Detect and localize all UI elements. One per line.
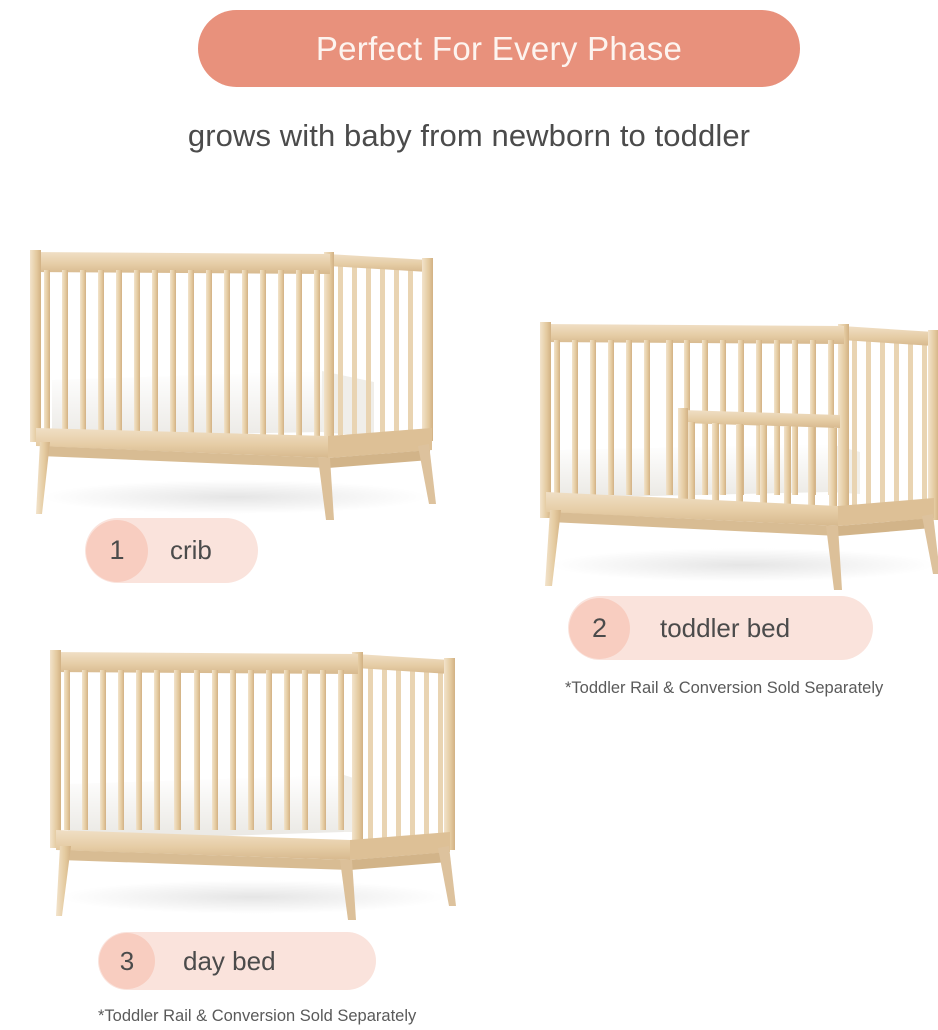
- stage-number-3: 3: [99, 933, 155, 989]
- product-image-crib: [22, 232, 442, 522]
- product-image-toddler-bed: [530, 302, 938, 594]
- header-banner: Perfect For Every Phase: [198, 10, 800, 87]
- footnote-toddler-bed: *Toddler Rail & Conversion Sold Separate…: [565, 679, 883, 698]
- header-subtitle: grows with baby from newborn to toddler: [0, 118, 938, 154]
- product-image-day-bed: [42, 632, 462, 922]
- banner-title: Perfect For Every Phase: [316, 30, 682, 68]
- stage-name-1: crib: [170, 535, 212, 566]
- stage-label-day-bed: 3 day bed: [98, 932, 376, 990]
- stage-number-1: 1: [86, 520, 148, 582]
- footnote-day-bed: *Toddler Rail & Conversion Sold Separate…: [98, 1007, 416, 1026]
- stage-number-2: 2: [569, 598, 630, 659]
- stage-name-3: day bed: [183, 946, 276, 977]
- infographic-canvas: Perfect For Every Phase grows with baby …: [0, 0, 938, 1030]
- stage-label-crib: 1 crib: [85, 518, 258, 583]
- stage-label-toddler-bed: 2 toddler bed: [568, 596, 873, 660]
- stage-name-2: toddler bed: [660, 613, 790, 644]
